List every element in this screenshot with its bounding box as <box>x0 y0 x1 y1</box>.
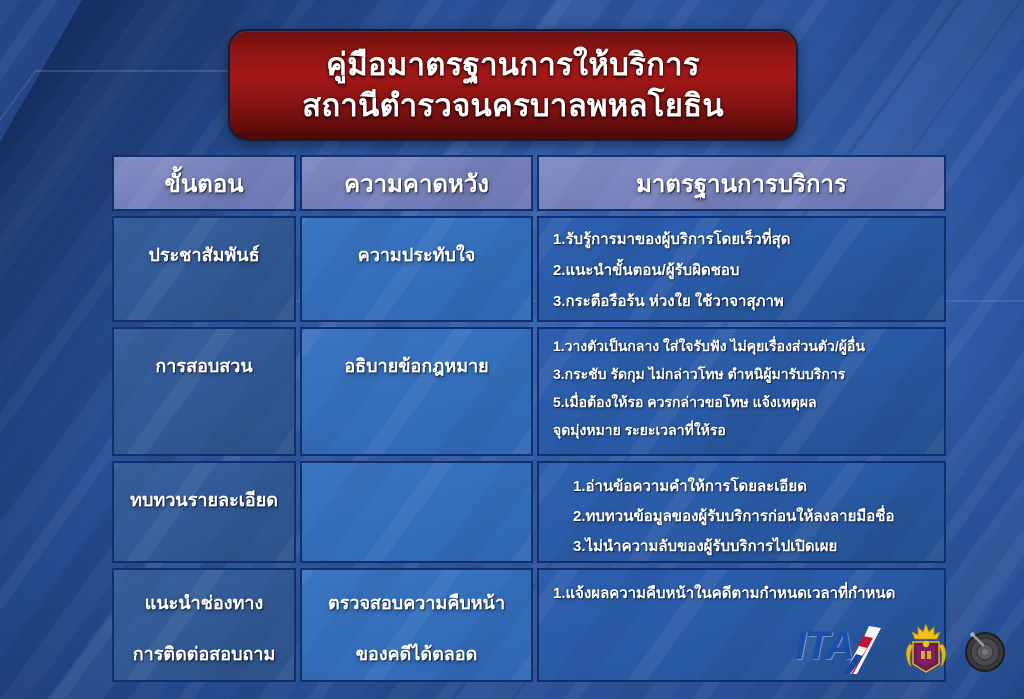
row-1-expectation-label: ความประทับใจ <box>302 240 531 269</box>
list-item: 2.ทบทวนข้อมูลของผู้รับบริการก่อนให้ลงลาย… <box>573 509 934 524</box>
logo-group: ITA <box>795 618 1010 682</box>
service-standard-table: ขั้นตอน ความคาดหวัง มาตรฐานการบริการ ประ… <box>112 155 946 687</box>
list-item: 1.แจ้งผลความคืบหน้าในคดีตามกำหนดเวลาที่ก… <box>553 586 934 601</box>
header-label-expectation: ความคาดหวัง <box>344 164 489 203</box>
title-banner: คู่มือมาตรฐานการให้บริการ สถานีตำรวจนครบ… <box>228 29 798 141</box>
table-header-expectation: ความคาดหวัง <box>300 155 533 211</box>
header-label-standard: มาตรฐานการบริการ <box>636 164 847 203</box>
row-3-standard-cell: 1.อ่านข้อความคำให้การโดยละเอียด 2.ทบทวนข… <box>537 461 946 563</box>
cell-sheen <box>114 218 294 320</box>
row-4-step-label-line-1: แนะนำช่องทาง <box>114 588 294 617</box>
row-1-expectation-cell: ความประทับใจ <box>300 216 533 322</box>
row-3-step-cell: ทบทวนรายละเอียด <box>112 461 296 563</box>
table-row: ทบทวนรายละเอียด 1.อ่านข้อความคำให้การโดย… <box>112 461 946 563</box>
row-2-standard-cell: 1.วางตัวเป็นกลาง ใส่ใจรับฟัง ไม่คุยเรื่อ… <box>537 327 946 456</box>
list-item: 3.ไม่นำความลับของผู้รับบริการไปเปิดเผย <box>573 539 934 554</box>
row-2-expectation-label: อธิบายข้อกฎหมาย <box>302 351 531 380</box>
list-item: 3.กระชับ รัดกุม ไม่กล่าวโทษ ตำหนิผู้มารั… <box>553 367 934 381</box>
row-1-standard-list: 1.รับรู้การมาของผู้บริการโดยเร็วที่สุด 2… <box>539 218 944 322</box>
row-4-step-cell: แนะนำช่องทาง การติดต่อสอบถาม <box>112 568 296 682</box>
row-1-step-label: ประชาสัมพันธ์ <box>114 240 294 269</box>
row-3-standard-list: 1.อ่านข้อความคำให้การโดยละเอียด 2.ทบทวนข… <box>539 463 944 563</box>
table-header-step: ขั้นตอน <box>112 155 296 211</box>
row-3-expectation-cell <box>300 461 533 563</box>
cell-sheen <box>302 463 531 561</box>
row-1-step-cell: ประชาสัมพันธ์ <box>112 216 296 322</box>
row-4-expectation-label-line-2: ของคดีได้ตลอด <box>302 639 531 668</box>
row-1-standard-cell: 1.รับรู้การมาของผู้บริการโดยเร็วที่สุด 2… <box>537 216 946 322</box>
list-item: 2.แนะนำขั้นตอน/ผู้รับผิดชอบ <box>553 263 934 278</box>
list-item: 1.รับรู้การมาของผู้บริการโดยเร็วที่สุด <box>553 232 934 247</box>
cell-sheen <box>114 329 294 454</box>
title-line-1: คู่มือมาตรฐานการให้บริการ <box>326 44 700 85</box>
table-header-row: ขั้นตอน ความคาดหวัง มาตรฐานการบริการ <box>112 155 946 211</box>
station-seal-icon <box>961 626 1009 674</box>
title-line-2: สถานีตำรวจนครบาลพหลโยธิน <box>302 85 724 126</box>
table-row: ประชาสัมพันธ์ ความประทับใจ 1.รับรู้การมา… <box>112 216 946 322</box>
row-2-standard-list: 1.วางตัวเป็นกลาง ใส่ใจรับฟัง ไม่คุยเรื่อ… <box>539 329 944 451</box>
list-item: 5.เมื่อต้องให้รอ ควรกล่าวขอโทษ แจ้งเหตุผ… <box>553 395 934 409</box>
row-4-expectation-label-line-1: ตรวจสอบความคืบหน้า <box>302 588 531 617</box>
ita-logo: ITA <box>795 622 891 678</box>
slide-canvas: คู่มือมาตรฐานการให้บริการ สถานีตำรวจนครบ… <box>0 0 1024 699</box>
row-2-step-label: การสอบสวน <box>114 351 294 380</box>
list-item: 3.กระตือรือร้น ห่วงใย ใช้วาจาสุภาพ <box>553 294 934 309</box>
header-label-step: ขั้นตอน <box>164 164 243 203</box>
table-header-standard: มาตรฐานการบริการ <box>537 155 946 211</box>
list-item: 1.วางตัวเป็นกลาง ใส่ใจรับฟัง ไม่คุยเรื่อ… <box>553 339 934 353</box>
table-row: การสอบสวน อธิบายข้อกฎหมาย 1.วางตัวเป็นกล… <box>112 327 946 456</box>
row-4-step-label-line-2: การติดต่อสอบถาม <box>114 639 294 668</box>
row-4-standard-list: 1.แจ้งผลความคืบหน้าในคดีตามกำหนดเวลาที่ก… <box>539 570 944 617</box>
royal-thai-police-crest-icon <box>901 622 951 678</box>
cell-sheen <box>302 218 531 320</box>
list-item: จุดมุ่งหมาย ระยะเวลาที่ให้รอ <box>553 423 934 437</box>
row-2-expectation-cell: อธิบายข้อกฎหมาย <box>300 327 533 456</box>
row-3-step-label: ทบทวนรายละเอียด <box>114 485 294 514</box>
cell-sheen <box>302 329 531 454</box>
row-2-step-cell: การสอบสวน <box>112 327 296 456</box>
row-4-expectation-cell: ตรวจสอบความคืบหน้า ของคดีได้ตลอด <box>300 568 533 682</box>
ita-ribbon-icon <box>795 622 891 678</box>
list-item: 1.อ่านข้อความคำให้การโดยละเอียด <box>573 479 934 494</box>
